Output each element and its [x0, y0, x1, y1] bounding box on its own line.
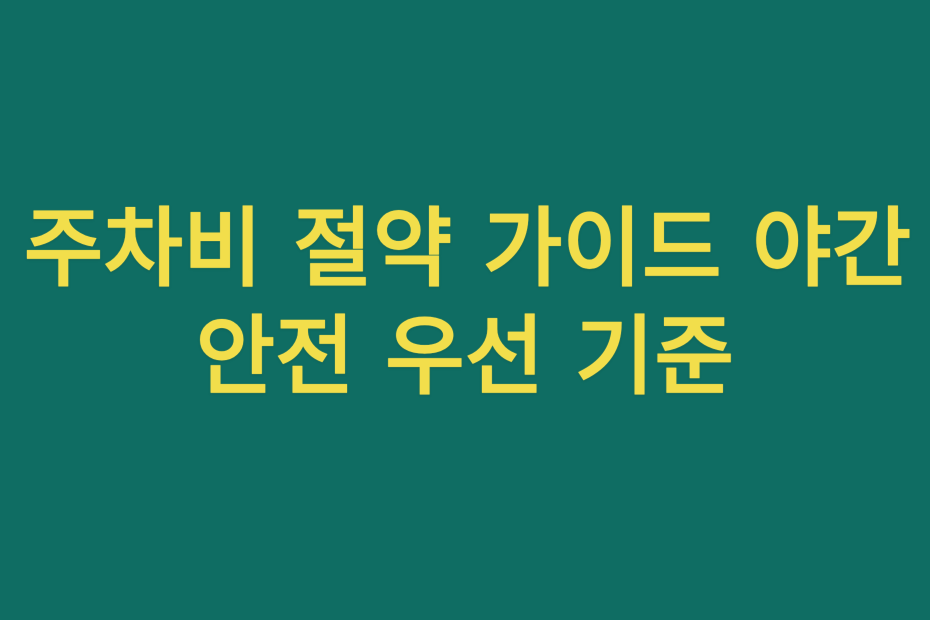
headline-line-2: 안전 우선 기준 — [24, 303, 906, 411]
headline-block: 주차비 절약 가이드 야간 안전 우선 기준 — [0, 195, 930, 411]
headline-line-1: 주차비 절약 가이드 야간 — [24, 195, 906, 303]
banner-canvas: 주차비 절약 가이드 야간 안전 우선 기준 — [0, 0, 930, 620]
